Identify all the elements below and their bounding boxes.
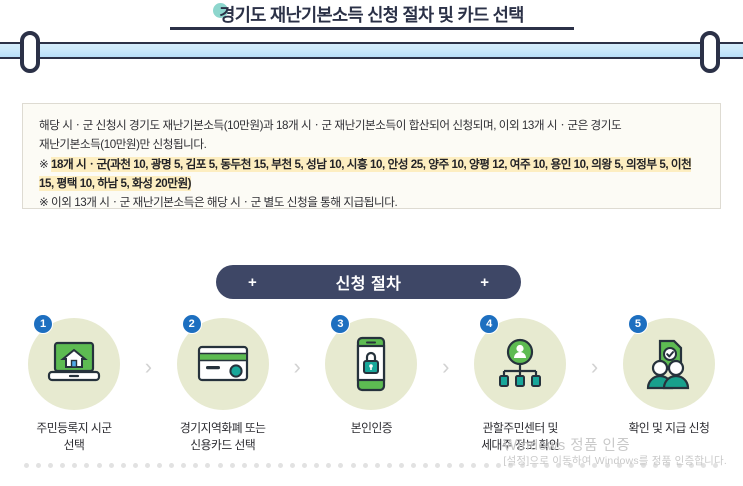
decorative-bar bbox=[0, 42, 743, 59]
smartphone-lock-icon bbox=[351, 336, 391, 392]
footer-dot bbox=[556, 463, 561, 468]
footer-dot bbox=[544, 463, 549, 468]
page-title-text: 경기도 재난기본소득 신청 절차 및 카드 선택 bbox=[219, 5, 524, 25]
process-step-4: 4 관할주민센터 및 세대주 정보 확인 bbox=[464, 318, 576, 454]
footer-dot bbox=[181, 463, 186, 468]
footer-dot bbox=[363, 463, 368, 468]
footer-dot bbox=[97, 463, 102, 468]
footer-dot bbox=[266, 463, 271, 468]
step-4-label-line-2: 세대주 정보 확인 bbox=[464, 437, 576, 454]
footer-dot bbox=[230, 463, 235, 468]
footer-dot bbox=[290, 463, 295, 468]
footer-dot bbox=[48, 463, 53, 468]
step-1-label-line-1: 주민등록지 시군 bbox=[18, 420, 130, 437]
footer-dot bbox=[157, 463, 162, 468]
footer-dot bbox=[689, 463, 694, 468]
footer-dot bbox=[605, 463, 610, 468]
process-banner-title: 신청 절차 bbox=[336, 270, 402, 294]
info-note-2: ※ 이외 13개 시ㆍ군 재난기본소득은 해당 시ㆍ군 별도 신청을 통해 지급… bbox=[39, 194, 704, 213]
footer-dot bbox=[375, 463, 380, 468]
footer-dot bbox=[592, 463, 597, 468]
footer-dot bbox=[278, 463, 283, 468]
laptop-house-icon bbox=[46, 339, 102, 389]
info-paragraph-line-2: 재난기본소득(10만원)만 신청됩니다. bbox=[39, 136, 704, 155]
footer-dot bbox=[60, 463, 65, 468]
step-5-label: 확인 및 지급 신청 bbox=[613, 420, 725, 437]
plus-right-icon: + bbox=[480, 275, 489, 290]
footer-dot bbox=[471, 463, 476, 468]
step-4-circle: 4 bbox=[474, 318, 566, 410]
step-3-circle: 3 bbox=[325, 318, 417, 410]
decorative-pin-right-icon bbox=[700, 31, 720, 73]
plus-left-icon: + bbox=[248, 275, 257, 290]
chevron-right-icon-3: › bbox=[442, 356, 449, 378]
footer-dot bbox=[496, 463, 501, 468]
step-1-label-line-2: 선택 bbox=[18, 437, 130, 454]
footer-dot bbox=[326, 463, 331, 468]
step-1-label: 주민등록지 시군 선택 bbox=[18, 420, 130, 454]
info-paragraph-line-1: 해당 시ㆍ군 신청시 경기도 재난기본소득(10만원)과 18개 시ㆍ군 재난기… bbox=[39, 117, 704, 136]
info-box: 해당 시ㆍ군 신청시 경기도 재난기본소득(10만원)과 18개 시ㆍ군 재난기… bbox=[22, 103, 721, 209]
footer-dot bbox=[617, 463, 622, 468]
step-3-label: 본인인증 bbox=[315, 420, 427, 437]
footer-dot bbox=[242, 463, 247, 468]
footer-dot bbox=[532, 463, 537, 468]
footer-dot bbox=[218, 463, 223, 468]
footer-dot bbox=[713, 463, 718, 468]
footer-dot bbox=[193, 463, 198, 468]
decorative-pin-left-icon bbox=[20, 31, 40, 73]
chevron-right-icon-1: › bbox=[145, 356, 152, 378]
credit-card-icon bbox=[195, 342, 251, 386]
footer-dot bbox=[36, 463, 41, 468]
process-step-1: 1 주민등록지 시군 선택 bbox=[18, 318, 130, 454]
footer-dot bbox=[254, 463, 259, 468]
process-banner: + 신청 절차 + bbox=[216, 265, 521, 299]
footer-dot bbox=[145, 463, 150, 468]
process-step-3: 3 본인인증 bbox=[315, 318, 427, 437]
step-2-label: 경기지역화폐 또는 신용카드 선택 bbox=[167, 420, 279, 454]
step-2-label-line-2: 신용카드 선택 bbox=[167, 437, 279, 454]
footer-dot bbox=[641, 463, 646, 468]
footer-dot bbox=[351, 463, 356, 468]
step-4-label-line-1: 관할주민센터 및 bbox=[464, 420, 576, 437]
step-4-label: 관할주민센터 및 세대주 정보 확인 bbox=[464, 420, 576, 454]
footer-dot bbox=[338, 463, 343, 468]
process-step-2: 2 경기지역화폐 또는 신용카드 선택 bbox=[167, 318, 279, 454]
footer-dot-row bbox=[24, 462, 719, 468]
chevron-right-icon-2: › bbox=[293, 356, 300, 378]
footer-dot bbox=[447, 463, 452, 468]
footer-dot bbox=[629, 463, 634, 468]
footer-dot bbox=[314, 463, 319, 468]
step-5-circle: 5 bbox=[623, 318, 715, 410]
footer-dot bbox=[568, 463, 573, 468]
chevron-right-icon-4: › bbox=[591, 356, 598, 378]
step-2-label-line-1: 경기지역화폐 또는 bbox=[167, 420, 279, 437]
step-3-number-badge: 3 bbox=[330, 314, 350, 334]
footer-dot bbox=[665, 463, 670, 468]
footer-dot bbox=[677, 463, 682, 468]
footer-dot bbox=[508, 463, 513, 468]
info-note-1: ※ 18개 시ㆍ군(과천 10, 광명 5, 김포 5, 동두천 15, 부천 … bbox=[39, 155, 704, 194]
process-step-5: 5 확인 및 지급 신청 bbox=[613, 318, 725, 437]
title-underline bbox=[170, 27, 574, 30]
step-1-circle: 1 bbox=[28, 318, 120, 410]
info-note-1-highlight: 18개 시ㆍ군(과천 10, 광명 5, 김포 5, 동두천 15, 부천 5,… bbox=[39, 157, 691, 191]
step-1-number-badge: 1 bbox=[33, 314, 53, 334]
people-document-check-icon bbox=[642, 338, 696, 390]
footer-dot bbox=[205, 463, 210, 468]
footer-dot bbox=[423, 463, 428, 468]
footer-dot bbox=[169, 463, 174, 468]
footer-dot bbox=[84, 463, 89, 468]
page-title: 경기도 재난기본소득 신청 절차 및 카드 선택 bbox=[0, 2, 743, 30]
footer-dot bbox=[72, 463, 77, 468]
footer-dot bbox=[411, 463, 416, 468]
footer-dot bbox=[133, 463, 138, 468]
step-2-circle: 2 bbox=[177, 318, 269, 410]
footer-dot bbox=[399, 463, 404, 468]
footer-dot bbox=[701, 463, 706, 468]
step-5-number-badge: 5 bbox=[628, 314, 648, 334]
footer-dot bbox=[435, 463, 440, 468]
footer-dot bbox=[520, 463, 525, 468]
footer-dot bbox=[24, 463, 29, 468]
footer-dot bbox=[484, 463, 489, 468]
step-5-label-line-1: 확인 및 지급 신청 bbox=[613, 420, 725, 437]
footer-dot bbox=[580, 463, 585, 468]
footer-dot bbox=[387, 463, 392, 468]
step-2-number-badge: 2 bbox=[182, 314, 202, 334]
footer-dot bbox=[121, 463, 126, 468]
step-3-label-line-1: 본인인증 bbox=[315, 420, 427, 437]
footer-dot bbox=[302, 463, 307, 468]
step-4-number-badge: 4 bbox=[479, 314, 499, 334]
footer-dot bbox=[653, 463, 658, 468]
infographic-page: 경기도 재난기본소득 신청 절차 및 카드 선택 해당 시ㆍ군 신청시 경기도 … bbox=[0, 0, 743, 486]
footer-dot bbox=[459, 463, 464, 468]
process-steps: 1 주민등록지 시군 선택 › 2 bbox=[18, 318, 725, 458]
footer-dot bbox=[109, 463, 114, 468]
info-note-1-mark: ※ bbox=[39, 158, 51, 171]
org-chart-person-icon bbox=[493, 338, 547, 390]
